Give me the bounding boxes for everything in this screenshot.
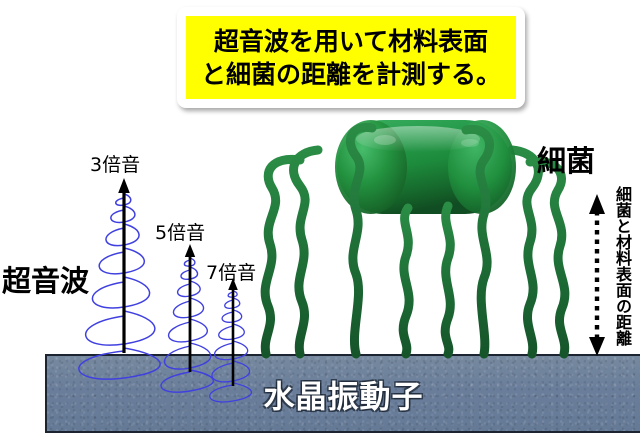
harmonic-wave-3-helix	[79, 194, 160, 379]
bacterium-flagella-back	[265, 150, 565, 354]
harmonic-wave-3-arrow-head	[118, 178, 130, 193]
bacterium-flagella-front	[350, 127, 489, 354]
figure-canvas: 水晶振動子	[0, 0, 640, 440]
flagellum-center-right	[466, 129, 490, 354]
flagellum-center-left	[350, 127, 372, 354]
distance-arrow	[589, 194, 605, 356]
harmonic-label-5: 5倍音	[155, 218, 205, 245]
flagellum-right-outer	[512, 150, 538, 354]
distance-arrow-head-top	[589, 194, 605, 214]
callout-line-1: 超音波を用いて材料表面	[214, 25, 488, 58]
flagellum-far-left	[265, 159, 300, 354]
callout-highlight: 超音波を用いて材料表面 と細菌の距離を計測する。	[186, 16, 516, 99]
harmonic-wave-5-arrow-head	[185, 244, 195, 257]
distance-caption: 細菌と材料表面の距離	[614, 186, 630, 346]
substrate-label: 水晶振動子	[47, 371, 640, 416]
flagellum-left-outer	[294, 150, 318, 354]
quartz-substrate-block: 水晶振動子	[45, 354, 640, 433]
flagellum-mid-right	[445, 206, 450, 354]
bacterium-body	[335, 120, 516, 214]
callout-card: 超音波を用いて材料表面 と細菌の距離を計測する。	[177, 7, 525, 108]
bacteria-label: 細菌	[537, 138, 595, 180]
callout-line-2: と細菌の距離を計測する。	[201, 58, 501, 91]
ultrasound-label: 超音波	[2, 258, 89, 300]
flagellum-far-right	[530, 161, 565, 354]
flagellum-center	[403, 208, 409, 354]
bacterium-highlight	[356, 126, 480, 152]
harmonic-label-3: 3倍音	[90, 150, 140, 177]
harmonic-wave-3	[79, 178, 160, 379]
harmonic-label-7: 7倍音	[206, 258, 256, 285]
